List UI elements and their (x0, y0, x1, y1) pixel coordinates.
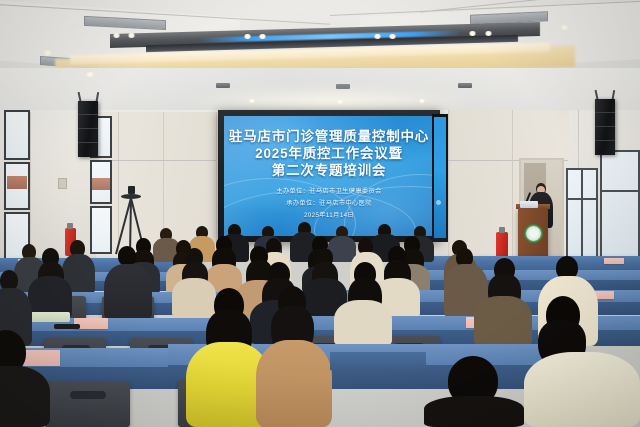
line-array-speaker (595, 99, 615, 155)
ceiling-spotlight (484, 31, 493, 36)
ceiling-spotlight (560, 25, 569, 30)
desk-surface-shaded (330, 352, 426, 370)
wall-seam (30, 112, 31, 260)
recessed-light-fixture (216, 83, 230, 88)
exterior-roof-view (7, 176, 27, 189)
ceiling-downlight (42, 50, 53, 56)
fire-extinguisher-valve (499, 227, 505, 233)
ceiling-spotlight (243, 34, 252, 39)
fire-extinguisher-valve (67, 223, 73, 229)
recessed-light-fixture (458, 83, 472, 88)
presentation-screen[interactable]: 驻马店市门诊管理质量控制中心 2025年质控工作会议暨 第二次专题培训会 主办单… (224, 116, 434, 236)
wall-seam-horizontal (96, 160, 216, 161)
documents-stack (30, 312, 70, 322)
side-display-dot (436, 200, 441, 205)
hospital-emblem (524, 224, 543, 243)
podium-laptop (520, 201, 538, 208)
window-mullion (600, 190, 640, 192)
chair-back (44, 382, 130, 427)
window-frame (600, 150, 640, 260)
line-array-speaker (78, 101, 98, 157)
fire-extinguisher (496, 232, 508, 258)
ceiling-spotlight (258, 34, 267, 39)
window-mullion (581, 168, 583, 260)
exterior-roof-view (92, 178, 110, 190)
conference-room-scene: 驻马店市门诊管理质量控制中心 2025年质控工作会议暨 第二次专题培训会 主办单… (0, 0, 640, 427)
wall-seam (512, 110, 513, 260)
side-display[interactable] (434, 117, 446, 238)
screen-subtitle-organizer: 主办单位：驻马店市卫生健康委员会 (224, 186, 434, 195)
screen-subtitle-date: 2025年11月14日 (224, 210, 434, 219)
window-frame (90, 206, 112, 254)
ceiling-spotlight (373, 34, 382, 39)
camera-head (128, 186, 135, 194)
screen-title-line-3: 第二次专题培训会 (224, 159, 434, 179)
wall-switch-plate[interactable] (58, 178, 67, 189)
ceiling-downlight (85, 72, 95, 77)
screen-subtitle-host: 承办单位：驻马店市中心医院 (224, 198, 434, 207)
ceiling-spotlight (112, 33, 121, 38)
window-frame (4, 110, 30, 160)
ceiling-spotlight (468, 31, 477, 36)
ceiling-spotlight (388, 34, 397, 39)
ceiling-spotlight (127, 33, 136, 38)
handout-paper (604, 258, 624, 264)
remote-control (54, 324, 80, 329)
